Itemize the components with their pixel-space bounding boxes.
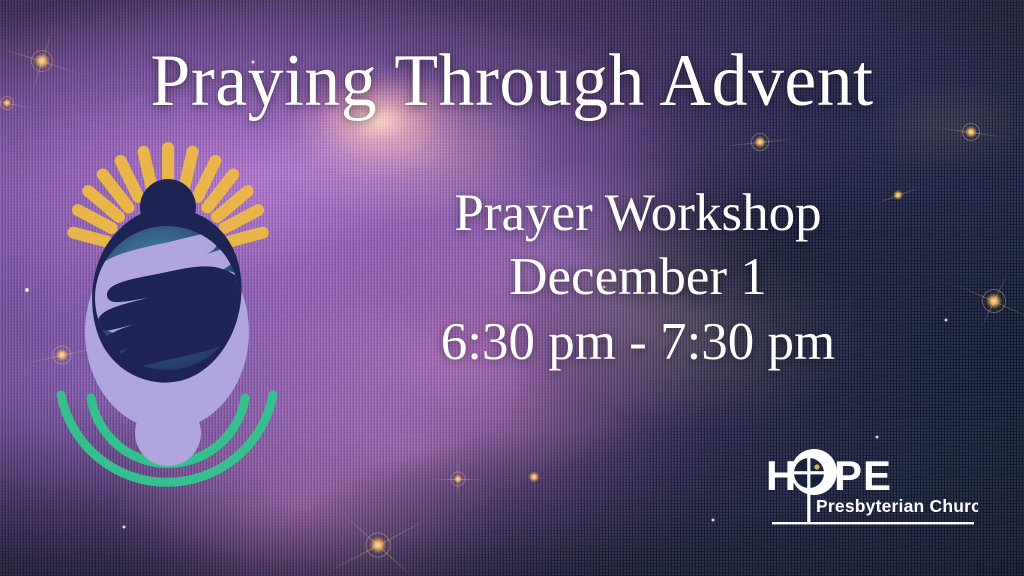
star-speck-icon xyxy=(876,436,879,439)
event-date: December 1 xyxy=(378,250,898,306)
logo-underline xyxy=(772,522,974,524)
logo-tagline: Presbyterian Church xyxy=(816,496,978,516)
event-time: 6:30 pm - 7:30 pm xyxy=(378,315,898,371)
star-speck-icon xyxy=(712,519,715,522)
logo-wordmark-pe: PE xyxy=(834,452,892,499)
lavender-dot-icon xyxy=(135,400,201,466)
praying-figure-illustration xyxy=(55,150,285,490)
star-speck-icon xyxy=(945,319,948,322)
advent-poster: Praying Through Advent Prayer Workshop D… xyxy=(0,0,1024,576)
hope-presbyterian-church-logo[interactable]: H PE Presbyterian Church xyxy=(762,446,978,530)
event-name: Prayer Workshop xyxy=(378,186,898,242)
star-speck-icon xyxy=(25,288,29,292)
page-title: Praying Through Advent xyxy=(15,44,1008,118)
event-details: Prayer Workshop December 1 6:30 pm - 7:3… xyxy=(378,186,898,371)
star-speck-icon xyxy=(123,526,126,529)
